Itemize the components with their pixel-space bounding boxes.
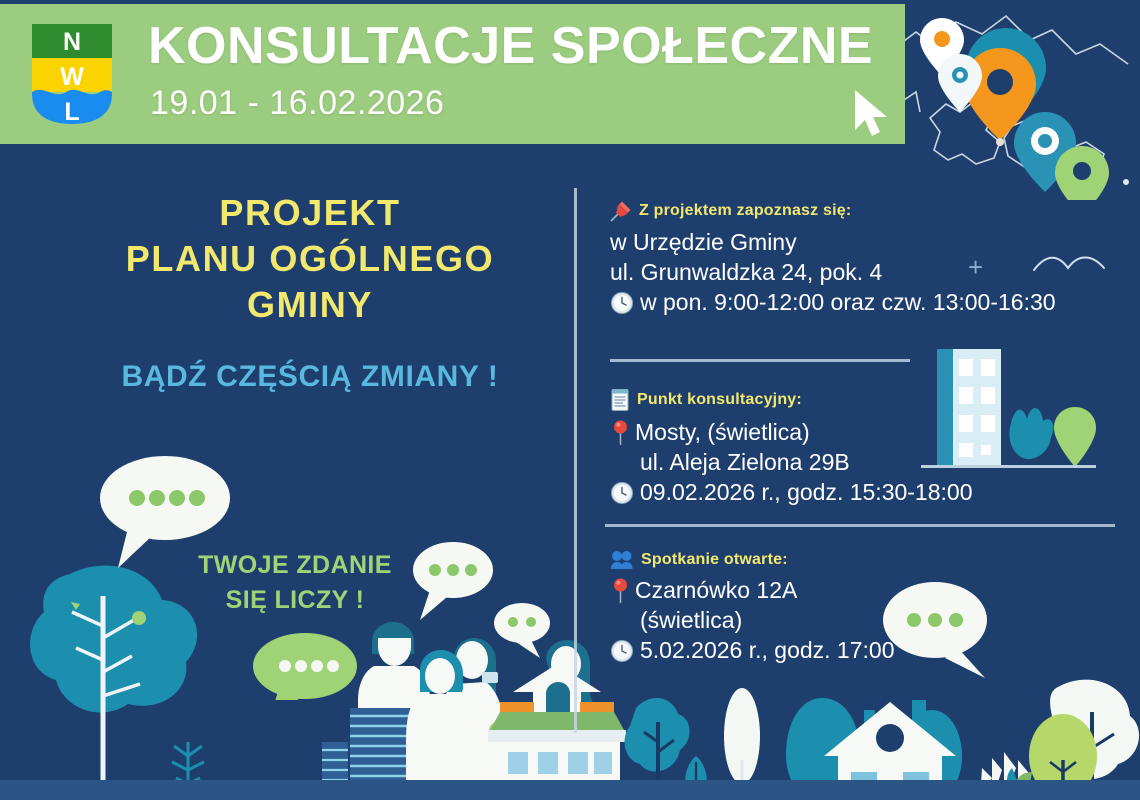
info-line: ul. Aleja Zielona 29B xyxy=(610,448,973,478)
project-title-line-1: PROJEKT xyxy=(60,190,560,236)
bubble-green xyxy=(253,633,357,700)
info-block-heading: Spotkanie otwarte: xyxy=(610,550,894,570)
info-line: ul. Grunwaldzka 24, pok. 4 xyxy=(610,258,1056,288)
map-dot xyxy=(1123,179,1129,185)
note-icon xyxy=(610,388,630,412)
crest-letter-w: W xyxy=(60,63,84,91)
info-line: 09.02.2026 r., godz. 15:30-18:00 xyxy=(610,478,973,508)
info-line-text: ul. Grunwaldzka 24, pok. 4 xyxy=(610,258,882,288)
bubble-white-right xyxy=(883,582,987,678)
clock-icon xyxy=(610,639,634,663)
crest-letter-l: L xyxy=(64,98,79,126)
info-line-text: Czarnówko 12A xyxy=(635,576,797,606)
slogan-line-1: TWOJE ZDANIE xyxy=(175,548,415,583)
gmina-coat-of-arms: N W L xyxy=(26,18,118,128)
info-line: w Urzędzie Gminy xyxy=(610,228,1056,258)
info-line: w pon. 9:00-12:00 oraz czw. 13:00-16:30 xyxy=(610,288,1056,318)
project-title-line-2: PLANU OGÓLNEGO xyxy=(60,236,560,282)
info-block-urzad: Z projektem zapoznasz się: w Urzędzie Gm… xyxy=(610,200,1056,318)
section-divider-1 xyxy=(610,359,910,362)
info-line-text: ul. Aleja Zielona 29B xyxy=(640,448,850,478)
people-icon xyxy=(610,550,634,570)
pin-green xyxy=(1055,146,1109,200)
slogan: TWOJE ZDANIE SIĘ LICZY ! xyxy=(175,548,415,617)
map-marker-icon xyxy=(612,420,629,446)
info-block-punkt-konsultacyjny: Punkt konsultacyjny: Mosty, (świetlica) … xyxy=(610,388,973,508)
info-block-heading-text: Spotkanie otwarte: xyxy=(641,551,788,569)
info-line-text: 09.02.2026 r., godz. 15:30-18:00 xyxy=(640,478,973,508)
info-block-heading-text: Z projektem zapoznasz się: xyxy=(639,202,851,220)
info-line-text: 5.02.2026 r., godz. 17:00 xyxy=(640,636,894,666)
consultation-date-range: 19.01 - 16.02.2026 xyxy=(150,84,444,123)
slogan-line-2: SIĘ LICZY ! xyxy=(175,583,415,618)
info-line-text: w Urzędzie Gminy xyxy=(610,228,797,258)
project-title: PROJEKT PLANU OGÓLNEGO GMINY xyxy=(60,190,560,328)
info-block-heading: Punkt konsultacyjny: xyxy=(610,388,973,412)
info-block-spotkanie-otwarte: Spotkanie otwarte: Czarnówko 12A (świetl… xyxy=(610,550,894,666)
project-title-line-3: GMINY xyxy=(60,282,560,328)
section-divider-2 xyxy=(605,524,1115,527)
ground-strip xyxy=(0,780,1140,800)
bubble-white-small xyxy=(494,603,550,658)
info-line: (świetlica) xyxy=(610,606,894,636)
clock-icon xyxy=(610,291,634,315)
info-line: Mosty, (świetlica) xyxy=(610,418,973,448)
page-title: KONSULTACJE SPOŁECZNE xyxy=(148,20,873,72)
clock-icon xyxy=(610,481,634,505)
info-block-heading: Z projektem zapoznasz się: xyxy=(610,200,1056,222)
cursor-arrow-icon xyxy=(850,88,894,140)
info-line-text: (świetlica) xyxy=(640,606,742,636)
poster-canvas: N W L KONSULTACJE SPOŁECZNE 19.01 - 16.0… xyxy=(0,0,1140,800)
crest-letter-n: N xyxy=(63,28,81,56)
info-line-text: Mosty, (świetlica) xyxy=(635,418,810,448)
map-marker-icon xyxy=(612,578,629,604)
info-line: 5.02.2026 r., godz. 17:00 xyxy=(610,636,894,666)
info-block-heading-text: Punkt konsultacyjny: xyxy=(637,391,802,409)
info-line-text: w pon. 9:00-12:00 oraz czw. 13:00-16:30 xyxy=(640,288,1056,318)
column-divider xyxy=(574,188,577,733)
bubble-white-medium xyxy=(413,542,493,620)
info-line: Czarnówko 12A xyxy=(610,576,894,606)
project-subtitle: BĄDŹ CZĘŚCIĄ ZMIANY ! xyxy=(60,360,560,394)
map-illustration xyxy=(890,0,1140,200)
pushpin-icon xyxy=(610,200,632,222)
